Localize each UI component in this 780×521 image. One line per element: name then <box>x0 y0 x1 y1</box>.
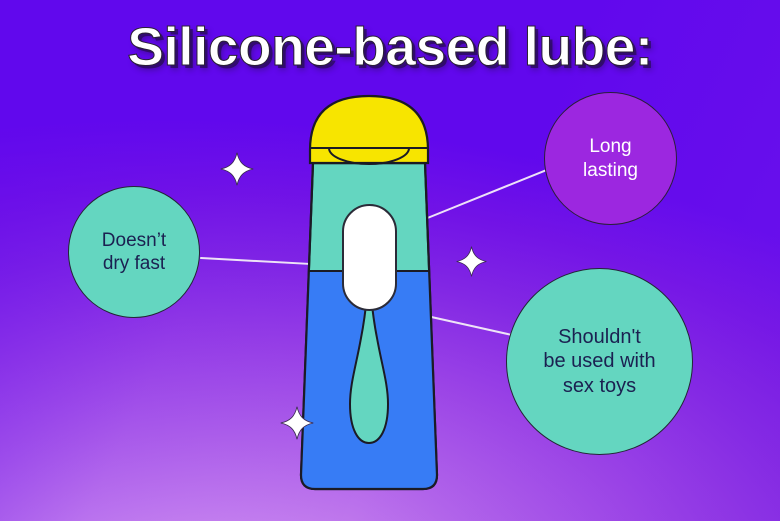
bubble-line: be used with <box>543 349 655 373</box>
bubble-line: Shouldn't <box>543 325 655 349</box>
bubble-long-lasting[interactable]: Long lasting <box>544 92 677 225</box>
sparkle-upper-left-icon <box>220 152 254 186</box>
page-title: Silicone-based lube: <box>0 16 780 78</box>
bottle-cap <box>310 96 428 163</box>
bottle-label <box>343 205 396 310</box>
bubble-line: Long <box>583 135 638 158</box>
bubble-shouldnt-be-used-with-sex-toys[interactable]: Shouldn't be used with sex toys <box>506 268 693 455</box>
bubble-line: sex toys <box>543 374 655 398</box>
sparkle-lower-left-icon <box>280 406 314 440</box>
infographic-canvas: Silicone-based lube: <box>0 0 780 521</box>
lube-bottle-illustration <box>296 88 442 494</box>
bubble-line: lasting <box>583 159 638 182</box>
bubble-line: dry fast <box>102 252 166 275</box>
bubble-line: Doesn’t <box>102 229 166 252</box>
bubble-doesnt-dry-fast[interactable]: Doesn’t dry fast <box>68 186 200 318</box>
sparkle-middle-right-icon <box>456 246 487 277</box>
